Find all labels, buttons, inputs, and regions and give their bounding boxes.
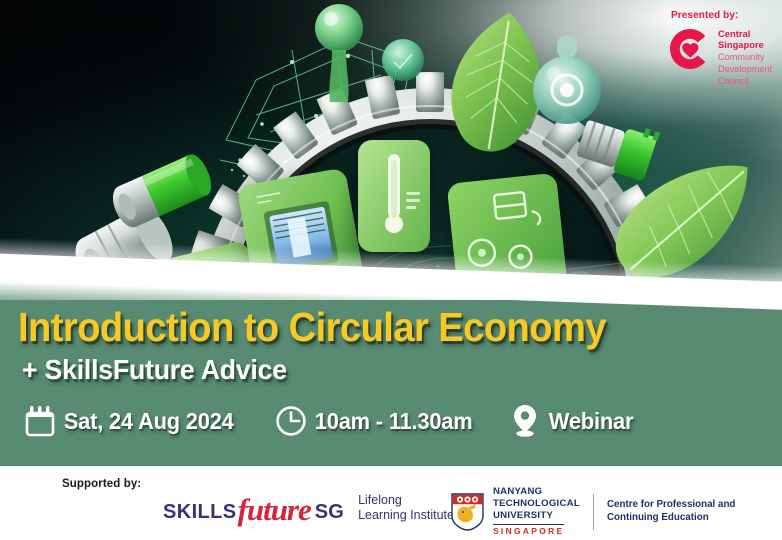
event-poster: Introduction to Circular Economy + Skill… <box>0 0 782 540</box>
divider <box>593 494 594 530</box>
ntu-wordmark: NANYANG TECHNOLOGICAL UNIVERSITY SINGAPO… <box>493 486 580 538</box>
ntu-crest-icon <box>451 493 484 531</box>
cdc-line-4: Development <box>718 64 772 75</box>
ntu-line-1: NANYANG <box>493 486 580 498</box>
lli-line-1: Lifelong <box>358 493 454 508</box>
skillsfuture-sg-logo: SKILLS future SG Lifelong Learning Insti… <box>163 490 454 526</box>
location-pin-icon <box>505 400 545 442</box>
cpce-line-2: Continuing Education <box>607 512 735 525</box>
event-location: Webinar <box>505 400 638 442</box>
cpce-line-1: Centre for Professional and <box>607 499 735 512</box>
ntu-cpce-text: Centre for Professional and Continuing E… <box>607 499 735 524</box>
ntu-line-3: UNIVERSITY <box>493 510 580 522</box>
lli-line-2: Learning Institute <box>358 508 454 523</box>
cdc-line-3: Community <box>718 52 772 63</box>
page-title: Introduction to Circular Economy <box>18 304 606 351</box>
central-singapore-cdc-logo: Central Singapore Community Development … <box>668 27 772 87</box>
presented-by-label: Presented by: <box>671 10 772 21</box>
clock-icon <box>271 400 311 442</box>
lifelong-learning-institute-text: Lifelong Learning Institute <box>358 493 454 523</box>
glass-bulb-icon <box>378 36 428 92</box>
ntu-singapore-logo: NANYANG TECHNOLOGICAL UNIVERSITY SINGAPO… <box>451 486 735 538</box>
supported-by-label: Supported by: <box>62 478 141 490</box>
page-subtitle: + SkillsFuture Advice <box>22 354 287 386</box>
skillsfuture-skills-text: SKILLS <box>163 501 237 524</box>
hero-image <box>0 0 782 300</box>
skillsfuture-wordmark: SKILLS future SG <box>163 490 344 526</box>
event-date-text: Sat, 24 Aug 2024 <box>60 408 234 435</box>
cdc-line-5: Council <box>718 76 772 87</box>
event-time-text: 10am - 11.30am <box>311 408 473 435</box>
skillsfuture-future-text: future <box>238 492 311 528</box>
event-date: Sat, 24 Aug 2024 <box>20 400 243 442</box>
ntu-line-4: SINGAPORE <box>493 524 564 537</box>
cdc-wordmark: Central Singapore Community Development … <box>718 27 772 87</box>
cdc-line-2: Singapore <box>718 40 772 51</box>
title-banner: Introduction to Circular Economy + Skill… <box>0 282 782 466</box>
ntu-line-2: TECHNOLOGICAL <box>493 498 580 510</box>
event-details: Sat, 24 Aug 2024 10am - 11.30am <box>20 400 638 442</box>
skillsfuture-sg-text: SG <box>315 501 344 524</box>
calendar-icon <box>20 400 60 442</box>
glass-bulb-icon <box>310 2 368 102</box>
event-location-text: Webinar <box>545 408 633 435</box>
presented-by-block: Presented by: Central Singapore Communit… <box>668 10 772 87</box>
cdc-heart-c-icon <box>668 27 712 71</box>
footer-partners: Supported by: SKILLS future SG Lifelong … <box>0 466 782 540</box>
event-time: 10am - 11.30am <box>271 400 481 442</box>
app-tile <box>358 140 430 252</box>
